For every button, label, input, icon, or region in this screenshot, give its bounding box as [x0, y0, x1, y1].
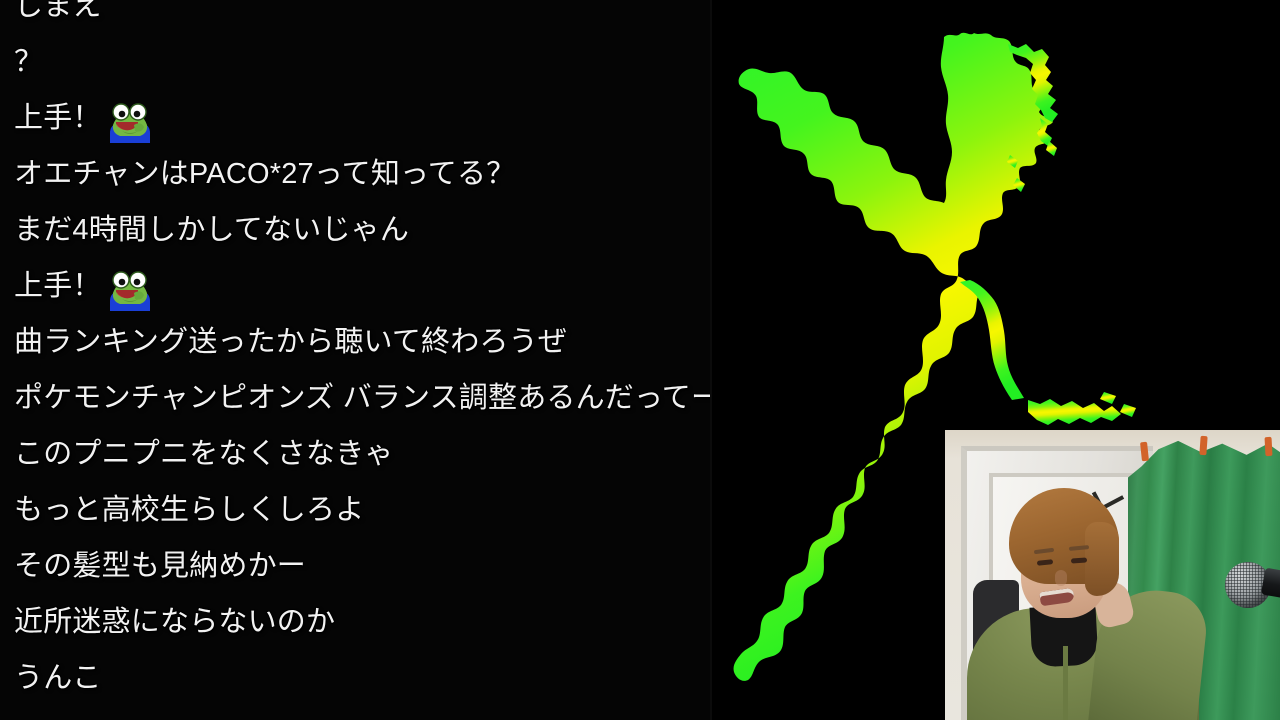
chat-message-text: 上手！	[14, 90, 102, 146]
chat-message-text: もっと高校生らしくしろよ	[14, 482, 364, 538]
chat-message: もっと高校生らしくしろよ	[0, 482, 710, 538]
live-chat-pane[interactable]: しまえ ？ 上手！	[0, 0, 710, 720]
chat-message: 上手！	[0, 90, 710, 146]
microphone-body	[1261, 568, 1280, 600]
chat-message-text: その髪型も見納めかー	[14, 538, 306, 594]
chat-message: うんこ	[0, 650, 710, 706]
chat-message-text: まだ4時間しかしてないじゃん	[14, 202, 409, 258]
stream-screen: しまえ ？ 上手！	[0, 0, 1280, 720]
chat-message-text: しまえ	[14, 0, 102, 34]
chat-message-text: このプニプニをなくさなきゃ	[14, 426, 394, 482]
chat-message-text: オエチャンはPACO*27って知ってる？	[14, 146, 515, 202]
chat-message-text: うんこ	[14, 650, 102, 706]
chat-message: 上手！	[0, 258, 710, 314]
backdrop-clip	[1265, 437, 1273, 456]
chat-message: 近所迷惑にならないのか	[0, 594, 710, 650]
backdrop-clip	[1199, 436, 1207, 455]
chat-message: このプニプニをなくさなきゃ	[0, 426, 710, 482]
chat-message-text: ポケモンチャンピオンズ バランス調整あるんだってー	[14, 370, 710, 426]
chat-message: まだ4時間しかしてないじゃん	[0, 202, 710, 258]
pepe-emote	[104, 95, 156, 147]
chat-message-text: 上手！	[14, 258, 102, 314]
jacket-zipper	[1063, 646, 1068, 720]
chat-message-text: 曲ランキング送ったから聴いて終わろうぜ	[14, 314, 567, 370]
chat-message: オエチャンはPACO*27って知ってる？	[0, 146, 710, 202]
chat-message: 曲ランキング送ったから聴いて終わろうぜ	[0, 314, 710, 370]
chat-message: ポケモンチャンピオンズ バランス調整あるんだってー	[0, 370, 710, 426]
chat-message: ？	[0, 34, 710, 90]
webcam-overlay[interactable]	[945, 430, 1280, 720]
nose	[1055, 570, 1067, 586]
chat-message: しまえ	[0, 0, 710, 34]
chat-message: その髪型も見納めかー	[0, 538, 710, 594]
chat-message-list: しまえ ？ 上手！	[0, 0, 710, 706]
person-hair-side	[1085, 522, 1119, 596]
chat-message-text: ？	[14, 34, 43, 90]
chat-message-text: 近所迷惑にならないのか	[14, 594, 335, 650]
pepe-emote	[104, 263, 156, 315]
